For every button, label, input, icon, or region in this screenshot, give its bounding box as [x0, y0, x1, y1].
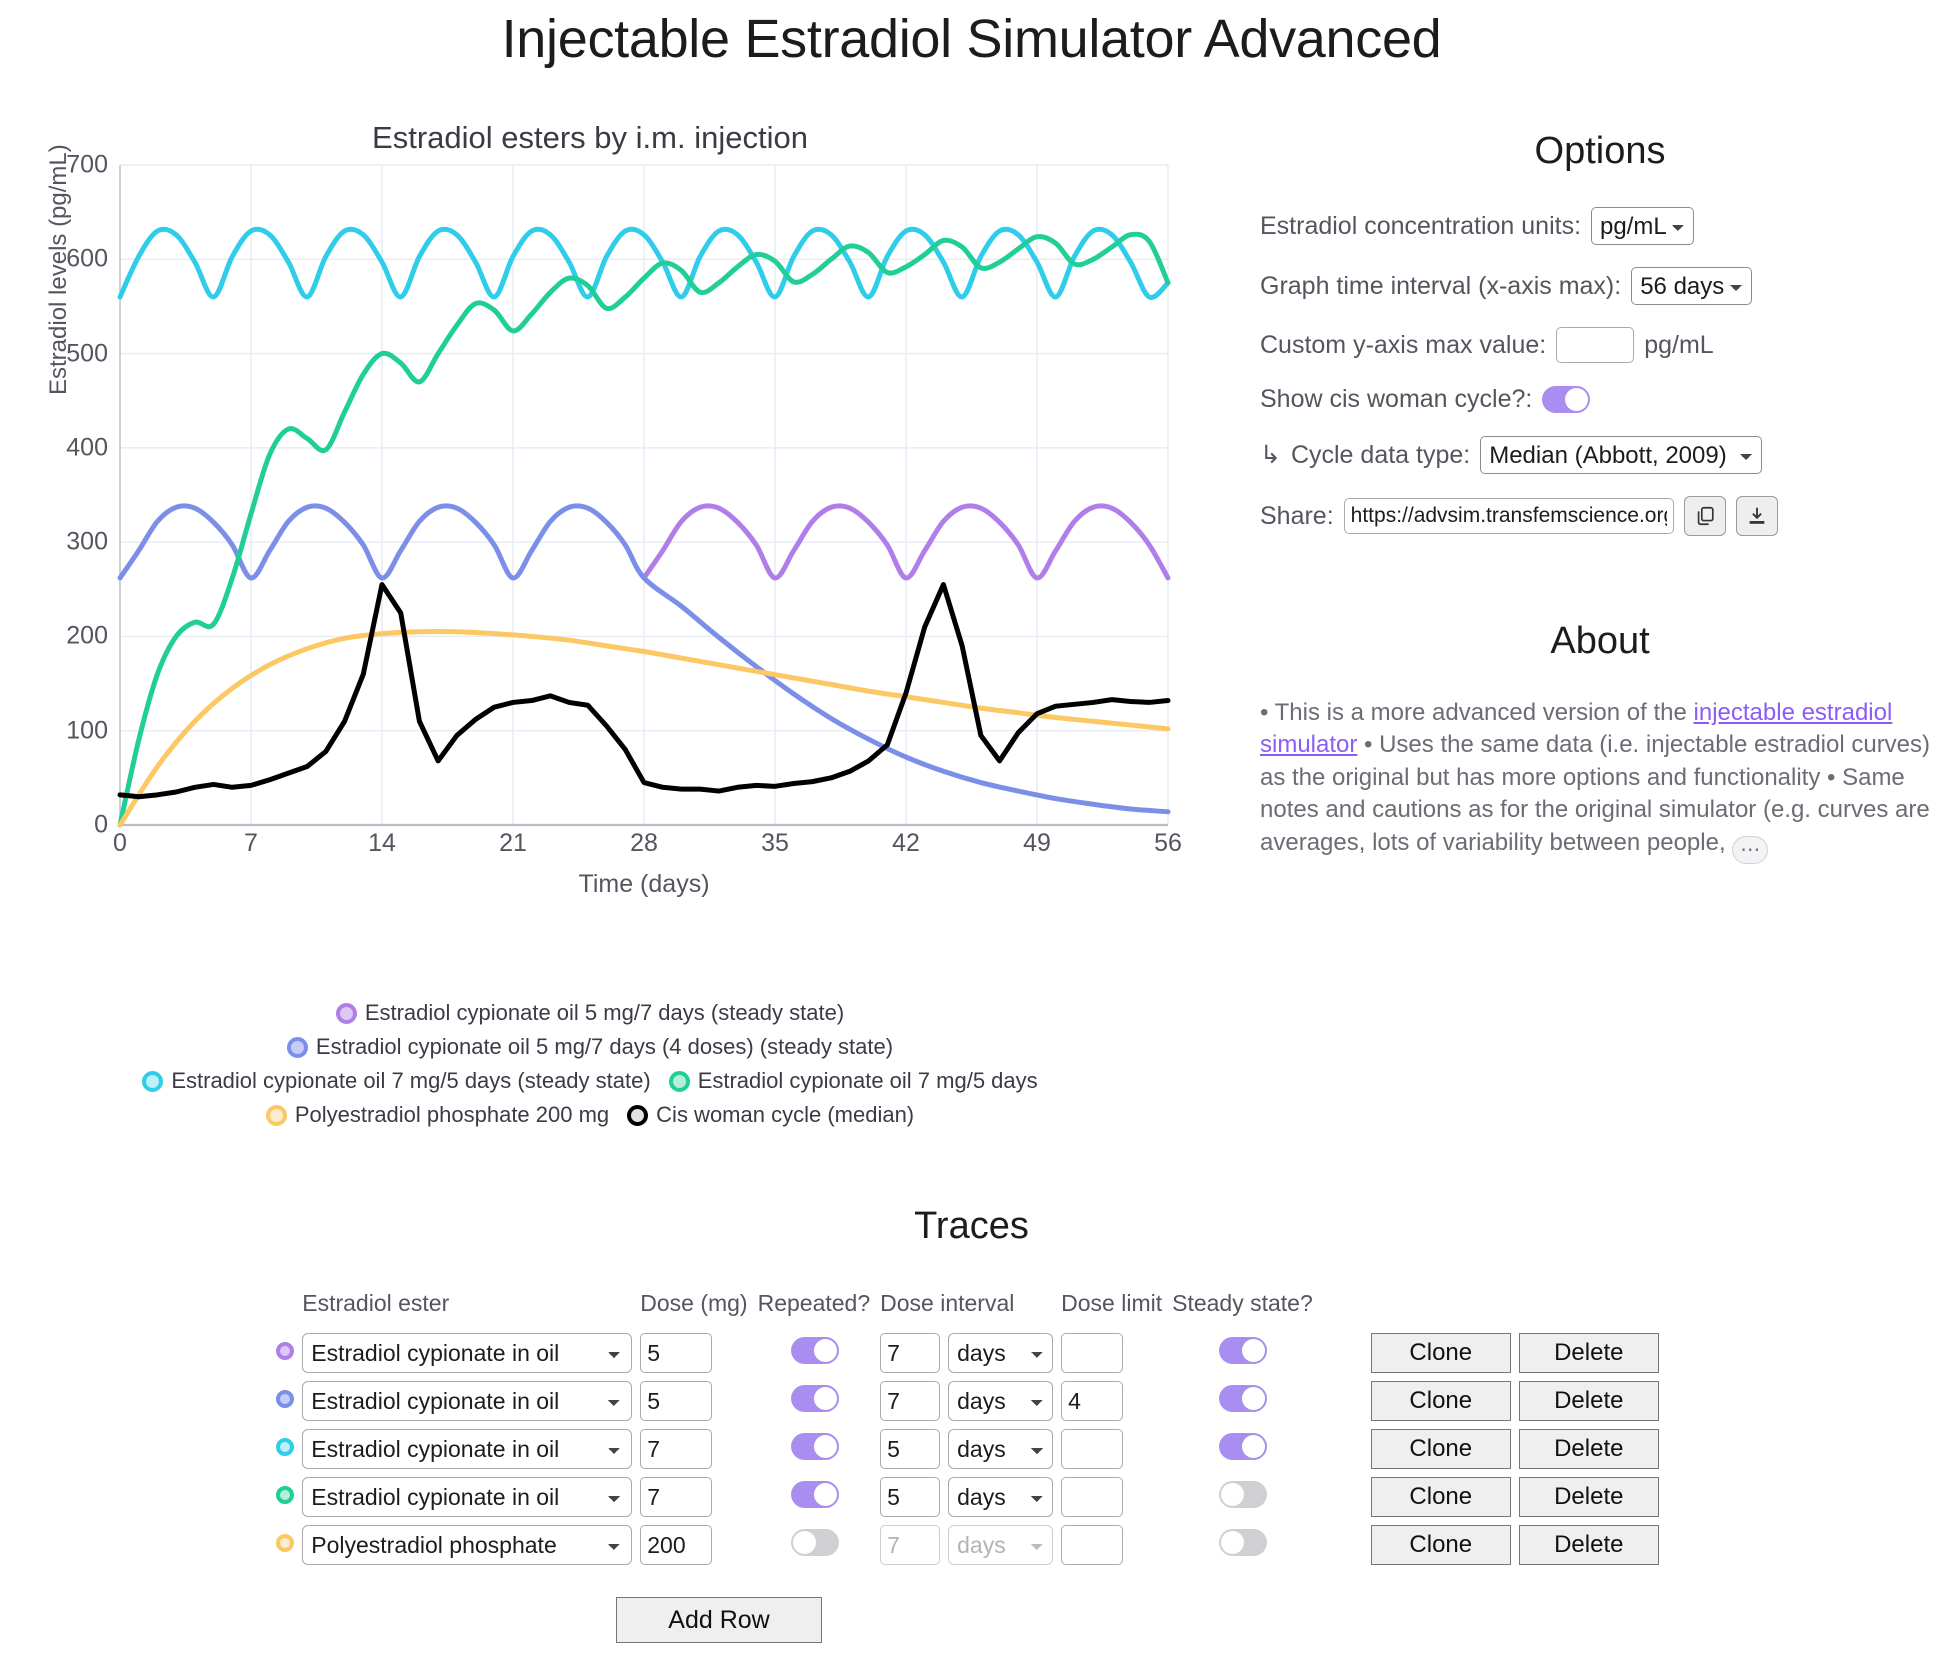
dose-interval-input[interactable] — [880, 1333, 940, 1373]
legend-swatch-icon — [142, 1071, 163, 1092]
dose-input[interactable] — [640, 1429, 712, 1469]
share-input[interactable] — [1344, 498, 1674, 534]
dose-cell — [640, 1521, 757, 1569]
repeated-cell — [758, 1329, 881, 1377]
x-tick-label: 28 — [630, 829, 658, 858]
dose-interval-input[interactable] — [880, 1525, 940, 1565]
legend-item[interactable]: Estradiol cypionate oil 5 mg/7 days (4 d… — [287, 1034, 893, 1060]
interval-unit-cell: days — [948, 1473, 1061, 1521]
legend-item[interactable]: Estradiol cypionate oil 5 mg/7 days (ste… — [336, 1000, 844, 1026]
table-row: Estradiol cypionate in oildaysCloneDelet… — [276, 1425, 1667, 1473]
options-heading: Options — [1260, 130, 1940, 173]
y-tick-label: 700 — [66, 151, 108, 180]
dose-interval-unit-select[interactable]: days — [948, 1525, 1053, 1565]
interval-unit-cell: days — [948, 1329, 1061, 1377]
time-interval-select[interactable]: 56 days — [1631, 267, 1752, 305]
ester-select[interactable]: Estradiol cypionate in oil — [302, 1381, 632, 1421]
steady-state-toggle[interactable] — [1219, 1481, 1267, 1508]
clone-button[interactable]: Clone — [1371, 1381, 1511, 1421]
dose-input[interactable] — [640, 1381, 712, 1421]
dose-interval-unit-select[interactable]: days — [948, 1381, 1053, 1421]
cycle-type-arrow-icon: ↳ — [1260, 440, 1281, 470]
ester-cell: Estradiol cypionate in oil — [302, 1473, 640, 1521]
delete-cell: Delete — [1519, 1473, 1667, 1521]
dose-interval-unit-select[interactable]: days — [948, 1333, 1053, 1373]
repeated-toggle[interactable] — [791, 1337, 839, 1364]
chart-title: Estradiol esters by i.m. injection — [0, 120, 1180, 156]
clone-cell: Clone — [1371, 1473, 1519, 1521]
traces-section: Traces Estradiol ester Dose (mg) Repeate… — [0, 1205, 1943, 1643]
dose-cell — [640, 1377, 757, 1425]
delete-cell: Delete — [1519, 1521, 1667, 1569]
trace-color-icon — [276, 1486, 294, 1504]
dose-limit-cell — [1061, 1521, 1172, 1569]
dose-limit-cell — [1061, 1425, 1172, 1473]
repeated-toggle[interactable] — [791, 1385, 839, 1412]
legend-item[interactable]: Cis woman cycle (median) — [627, 1102, 914, 1128]
legend-label: Cis woman cycle (median) — [656, 1102, 914, 1128]
interval-value-cell — [880, 1377, 948, 1425]
about-text-after: • Uses the same data (i.e. injectable es… — [1260, 731, 1930, 855]
header-spacer — [1323, 1290, 1371, 1329]
table-row: Estradiol cypionate in oildaysCloneDelet… — [276, 1329, 1667, 1377]
row-color-cell — [276, 1473, 302, 1521]
ester-cell: Estradiol cypionate in oil — [302, 1329, 640, 1377]
x-tick-label: 49 — [1023, 829, 1051, 858]
dose-interval-unit-select[interactable]: days — [948, 1477, 1053, 1517]
clone-cell: Clone — [1371, 1521, 1519, 1569]
ester-select[interactable]: Estradiol cypionate in oil — [302, 1477, 632, 1517]
show-cycle-label: Show cis woman cycle?: — [1260, 385, 1532, 414]
clone-cell: Clone — [1371, 1329, 1519, 1377]
ester-cell: Polyestradiol phosphate — [302, 1521, 640, 1569]
header-repeated: Repeated? — [758, 1290, 881, 1329]
custom-ymax-unit: pg/mL — [1644, 331, 1713, 360]
about-text-before: • This is a more advanced version of the — [1260, 699, 1694, 726]
x-tick-label: 14 — [368, 829, 396, 858]
delete-cell: Delete — [1519, 1329, 1667, 1377]
dose-limit-input[interactable] — [1061, 1333, 1123, 1373]
repeated-cell — [758, 1473, 881, 1521]
x-tick-label: 7 — [244, 829, 258, 858]
header-clone — [1371, 1290, 1519, 1329]
chart-container: Estradiol esters by i.m. injection Estra… — [0, 120, 1200, 940]
trace-color-icon — [276, 1390, 294, 1408]
header-dose: Dose (mg) — [640, 1290, 757, 1329]
page-title: Injectable Estradiol Simulator Advanced — [0, 8, 1943, 70]
row-spacer — [1323, 1473, 1371, 1521]
header-steady-state: Steady state? — [1172, 1290, 1323, 1329]
row-color-cell — [276, 1377, 302, 1425]
custom-ymax-label: Custom y-axis max value: — [1260, 331, 1546, 360]
show-cycle-row: Show cis woman cycle?: — [1260, 385, 1940, 414]
header-delete — [1519, 1290, 1667, 1329]
row-color-cell — [276, 1521, 302, 1569]
interval-unit-cell: days — [948, 1377, 1061, 1425]
about-expand-button[interactable]: ⋯ — [1732, 836, 1768, 864]
about-body: • This is a more advanced version of the… — [1260, 697, 1940, 864]
ester-cell: Estradiol cypionate in oil — [302, 1425, 640, 1473]
row-color-cell — [276, 1425, 302, 1473]
repeated-toggle[interactable] — [791, 1529, 839, 1556]
repeated-cell — [758, 1377, 881, 1425]
dose-input[interactable] — [640, 1525, 712, 1565]
steady-state-toggle[interactable] — [1219, 1385, 1267, 1412]
row-spacer — [1323, 1329, 1371, 1377]
share-label: Share: — [1260, 502, 1334, 531]
delete-button[interactable]: Delete — [1519, 1381, 1659, 1421]
header-dose-interval: Dose interval — [880, 1290, 1061, 1329]
delete-button[interactable]: Delete — [1519, 1333, 1659, 1373]
cycle-type-row: ↳ Cycle data type: Median (Abbott, 2009) — [1260, 436, 1940, 474]
interval-unit-cell: days — [948, 1521, 1061, 1569]
dose-interval-input[interactable] — [880, 1381, 940, 1421]
y-tick-label: 400 — [66, 433, 108, 462]
clone-button[interactable]: Clone — [1371, 1477, 1511, 1517]
dose-limit-input[interactable] — [1061, 1429, 1123, 1469]
steady-state-cell — [1172, 1425, 1323, 1473]
y-tick-label: 300 — [66, 528, 108, 557]
delete-cell: Delete — [1519, 1425, 1667, 1473]
interval-value-cell — [880, 1473, 948, 1521]
add-row-container: Add Row — [0, 1597, 1943, 1643]
legend-swatch-icon — [287, 1037, 308, 1058]
ester-select[interactable]: Polyestradiol phosphate — [302, 1525, 632, 1565]
legend-row: Estradiol cypionate oil 5 mg/7 days (4 d… — [0, 1034, 1180, 1060]
legend-label: Estradiol cypionate oil 5 mg/7 days (4 d… — [316, 1034, 893, 1060]
x-tick-label: 42 — [892, 829, 920, 858]
legend-row: Estradiol cypionate oil 5 mg/7 days (ste… — [0, 1000, 1180, 1026]
dose-input[interactable] — [640, 1333, 712, 1373]
custom-ymax-row: Custom y-axis max value: pg/mL — [1260, 327, 1940, 363]
header-dose-limit: Dose limit — [1061, 1290, 1172, 1329]
units-select[interactable]: pg/mL — [1591, 207, 1694, 245]
header-estradiol-ester: Estradiol ester — [302, 1290, 640, 1329]
cycle-type-label: Cycle data type: — [1291, 441, 1470, 470]
traces-heading: Traces — [0, 1205, 1943, 1248]
trace-color-icon — [276, 1438, 294, 1456]
interval-unit-cell: days — [948, 1425, 1061, 1473]
legend-label: Estradiol cypionate oil 5 mg/7 days (ste… — [365, 1000, 844, 1026]
legend-item[interactable]: Estradiol cypionate oil 7 mg/5 days — [669, 1068, 1038, 1094]
chart-legend: Estradiol cypionate oil 5 mg/7 days (ste… — [0, 1000, 1180, 1136]
repeated-cell — [758, 1425, 881, 1473]
row-color-cell — [276, 1329, 302, 1377]
dose-interval-input[interactable] — [880, 1429, 940, 1469]
clone-button[interactable]: Clone — [1371, 1525, 1511, 1565]
steady-state-cell — [1172, 1377, 1323, 1425]
interval-value-cell — [880, 1329, 948, 1377]
repeated-toggle[interactable] — [791, 1433, 839, 1460]
ester-cell: Estradiol cypionate in oil — [302, 1377, 640, 1425]
dose-interval-input[interactable] — [880, 1477, 940, 1517]
plot-svg — [120, 165, 1168, 825]
traces-header-row: Estradiol ester Dose (mg) Repeated? Dose… — [276, 1290, 1667, 1329]
units-row: Estradiol concentration units: pg/mL — [1260, 207, 1940, 245]
steady-state-cell — [1172, 1473, 1323, 1521]
ester-select[interactable]: Estradiol cypionate in oil — [302, 1429, 632, 1469]
share-row: Share: — [1260, 496, 1940, 536]
legend-label: Estradiol cypionate oil 7 mg/5 days (ste… — [171, 1068, 650, 1094]
dose-limit-input[interactable] — [1061, 1525, 1123, 1565]
download-icon[interactable] — [1736, 496, 1778, 536]
delete-cell: Delete — [1519, 1377, 1667, 1425]
delete-button[interactable]: Delete — [1519, 1477, 1659, 1517]
y-tick-label: 200 — [66, 622, 108, 651]
repeated-toggle[interactable] — [791, 1481, 839, 1508]
delete-button[interactable]: Delete — [1519, 1525, 1659, 1565]
legend-swatch-icon — [336, 1003, 357, 1024]
dose-cell — [640, 1425, 757, 1473]
trace-color-icon — [276, 1534, 294, 1552]
x-axis-label: Time (days) — [120, 870, 1168, 899]
units-label: Estradiol concentration units: — [1260, 212, 1581, 241]
ester-select[interactable]: Estradiol cypionate in oil — [302, 1333, 632, 1373]
row-spacer — [1323, 1425, 1371, 1473]
dose-interval-unit-select[interactable]: days — [948, 1429, 1053, 1469]
custom-ymax-input[interactable] — [1556, 327, 1634, 363]
traces-table: Estradiol ester Dose (mg) Repeated? Dose… — [276, 1290, 1667, 1569]
clone-cell: Clone — [1371, 1377, 1519, 1425]
about-panel: About • This is a more advanced version … — [1260, 620, 1940, 864]
y-tick-label: 500 — [66, 339, 108, 368]
clone-button[interactable]: Clone — [1371, 1333, 1511, 1373]
legend-row: Estradiol cypionate oil 7 mg/5 days (ste… — [0, 1068, 1180, 1094]
interval-value-cell — [880, 1425, 948, 1473]
steady-state-toggle[interactable] — [1219, 1433, 1267, 1460]
dose-cell — [640, 1473, 757, 1521]
clone-cell: Clone — [1371, 1425, 1519, 1473]
y-tick-label: 0 — [94, 811, 108, 840]
legend-label: Polyestradiol phosphate 200 mg — [295, 1102, 609, 1128]
delete-button[interactable]: Delete — [1519, 1429, 1659, 1469]
legend-label: Estradiol cypionate oil 7 mg/5 days — [698, 1068, 1038, 1094]
trace-color-icon — [276, 1342, 294, 1360]
dose-limit-input[interactable] — [1061, 1381, 1123, 1421]
repeated-cell — [758, 1521, 881, 1569]
time-interval-row: Graph time interval (x-axis max): 56 day… — [1260, 267, 1940, 305]
header-color-swatch — [276, 1290, 302, 1329]
copy-icon[interactable] — [1684, 496, 1726, 536]
legend-row: Polyestradiol phosphate 200 mg Cis woman… — [0, 1102, 1180, 1128]
dose-limit-cell — [1061, 1329, 1172, 1377]
x-tick-label: 35 — [761, 829, 789, 858]
table-row: Estradiol cypionate in oildaysCloneDelet… — [276, 1377, 1667, 1425]
show-cycle-toggle[interactable] — [1542, 386, 1590, 413]
y-tick-label: 600 — [66, 245, 108, 274]
x-tick-label: 56 — [1154, 829, 1182, 858]
dose-cell — [640, 1329, 757, 1377]
dose-limit-cell — [1061, 1377, 1172, 1425]
dose-input[interactable] — [640, 1477, 712, 1517]
add-row-button[interactable]: Add Row — [616, 1597, 822, 1643]
steady-state-toggle[interactable] — [1219, 1529, 1267, 1556]
steady-state-toggle[interactable] — [1219, 1337, 1267, 1364]
row-spacer — [1323, 1521, 1371, 1569]
options-panel: Options Estradiol concentration units: p… — [1260, 130, 1940, 558]
steady-state-cell — [1172, 1521, 1323, 1569]
legend-swatch-icon — [669, 1071, 690, 1092]
legend-swatch-icon — [266, 1105, 287, 1126]
plot-area: Estradiol levels (pg/mL) Time (days) 010… — [120, 165, 1168, 825]
x-tick-label: 21 — [499, 829, 527, 858]
steady-state-cell — [1172, 1329, 1323, 1377]
app-root: Injectable Estradiol Simulator Advanced … — [0, 0, 1943, 1679]
time-interval-label: Graph time interval (x-axis max): — [1260, 272, 1621, 301]
table-row: Polyestradiol phosphatedaysCloneDelete — [276, 1521, 1667, 1569]
row-spacer — [1323, 1377, 1371, 1425]
dose-limit-input[interactable] — [1061, 1477, 1123, 1517]
legend-item[interactable]: Estradiol cypionate oil 7 mg/5 days (ste… — [142, 1068, 650, 1094]
legend-item[interactable]: Polyestradiol phosphate 200 mg — [266, 1102, 609, 1128]
x-tick-label: 0 — [113, 829, 127, 858]
cycle-type-select[interactable]: Median (Abbott, 2009) — [1480, 436, 1762, 474]
dose-limit-cell — [1061, 1473, 1172, 1521]
clone-button[interactable]: Clone — [1371, 1429, 1511, 1469]
about-heading: About — [1260, 620, 1940, 663]
legend-swatch-icon — [627, 1105, 648, 1126]
table-row: Estradiol cypionate in oildaysCloneDelet… — [276, 1473, 1667, 1521]
y-tick-label: 100 — [66, 716, 108, 745]
interval-value-cell — [880, 1521, 948, 1569]
